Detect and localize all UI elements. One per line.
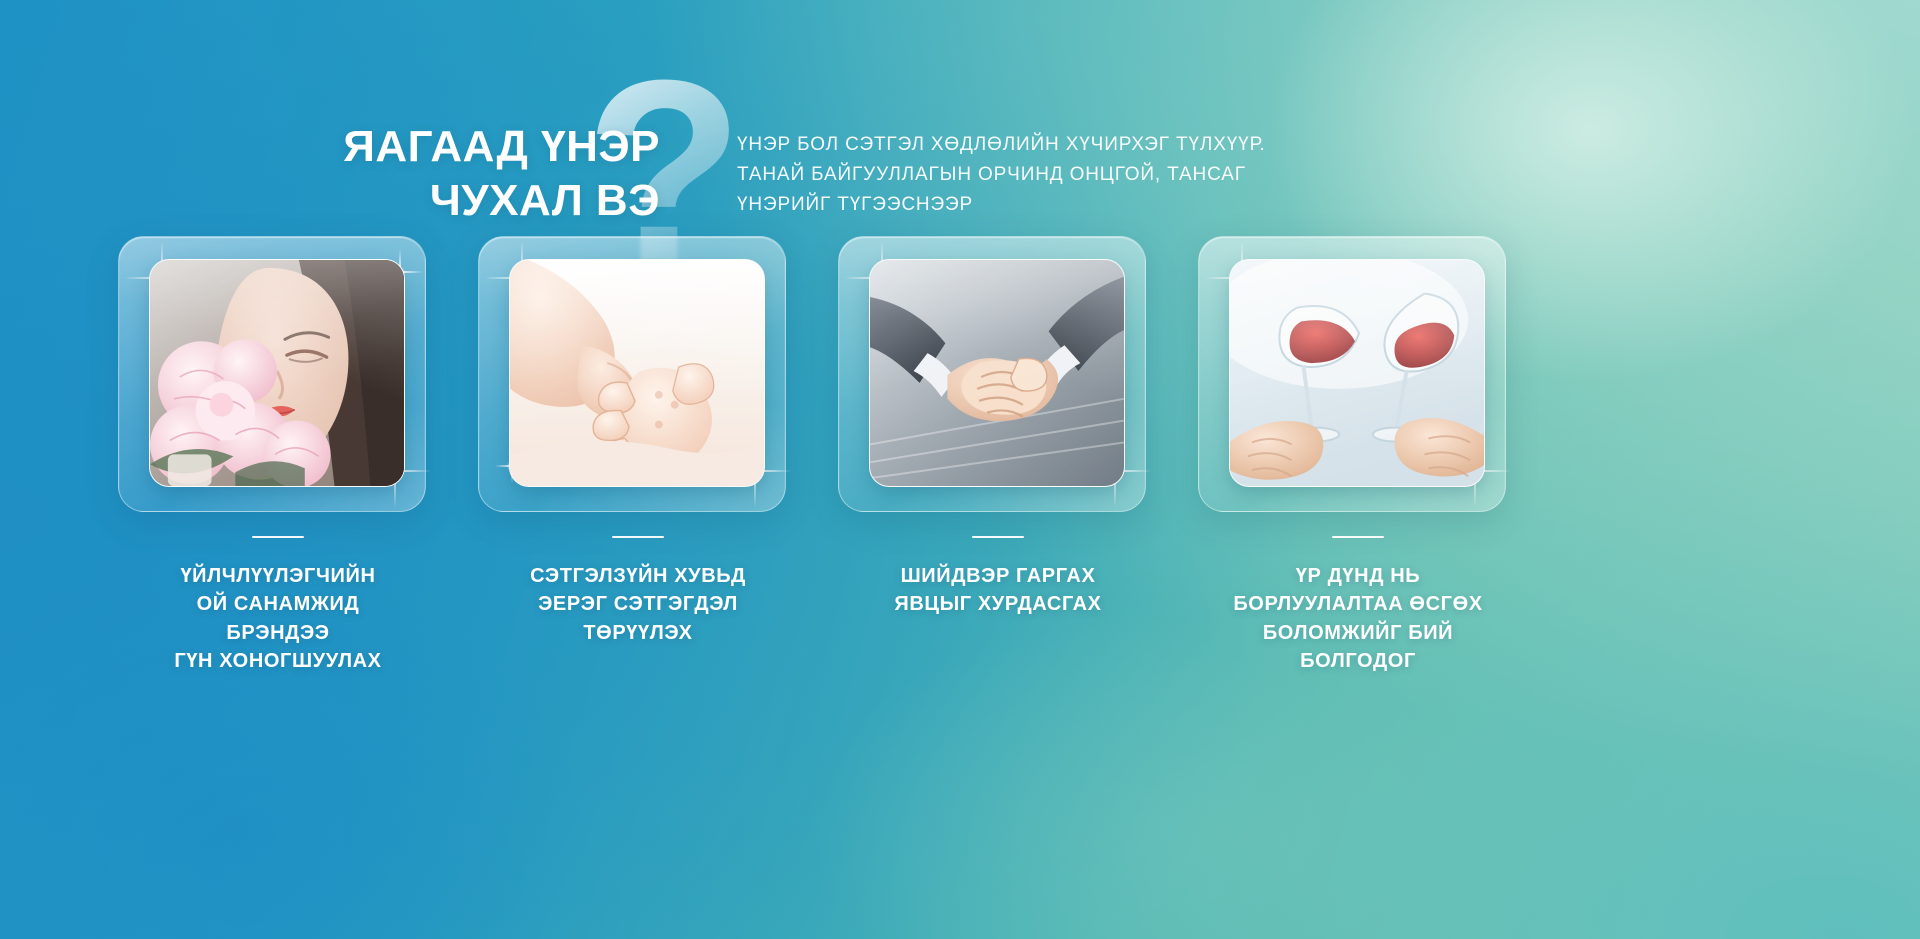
caption-divider — [612, 536, 664, 538]
benefit-card-1[interactable]: ҮЙЛЧЛҮҮЛЭГЧИЙН ОЙ САНАМЖИД БРЭНДЭЭ ГҮН Х… — [118, 236, 438, 512]
glass-frame — [118, 236, 426, 512]
image-gloss-overlay — [510, 260, 764, 486]
caption-line: БОЛГОДОГ — [1182, 647, 1534, 675]
benefit-card-3[interactable]: ШИЙДВЭР ГАРГАХ ЯВЦЫГ ХУРДАСГАХ — [838, 236, 1158, 512]
card-image-woman-smelling-flowers — [149, 259, 405, 487]
page-subtitle-line-1: ҮНЭР БОЛ СЭТГЭЛ ХӨДЛӨЛИЙН ХҮЧИРХЭГ ТҮЛХҮ… — [737, 130, 1357, 160]
caption-line: ҮЙЛЧЛҮҮЛЭГЧИЙН — [102, 562, 454, 590]
glass-frame — [478, 236, 786, 512]
caption-line: ШИЙДВЭР ГАРГАХ — [822, 562, 1174, 590]
caption-divider — [1332, 536, 1384, 538]
benefit-card-4[interactable]: ҮР ДҮНД НЬ БОРЛУУЛАЛТАА ӨСГӨХ БОЛОМЖИЙГ … — [1198, 236, 1518, 512]
page-title: ЯАГААД ҮНЭР ЧУХАЛ ВЭ — [0, 120, 660, 227]
card-image-baby-hand-holding-finger — [509, 259, 765, 487]
header: ? ЯАГААД ҮНЭР ЧУХАЛ ВЭ ҮНЭР БОЛ СЭТГЭЛ Х… — [0, 0, 1920, 260]
caption-line: СЭТГЭЛЗҮЙН ХУВЬД — [462, 562, 814, 590]
image-gloss-overlay — [1230, 260, 1484, 486]
caption-line: ГҮН ХОНОГШУУЛАХ — [102, 647, 454, 675]
page-title-line-2: ЧУХАЛ ВЭ — [0, 174, 660, 228]
benefit-card-3-caption: ШИЙДВЭР ГАРГАХ ЯВЦЫГ ХУРДАСГАХ — [822, 562, 1174, 619]
card-image-wine-glasses-toast — [1229, 259, 1485, 487]
benefit-card-1-caption: ҮЙЛЧЛҮҮЛЭГЧИЙН ОЙ САНАМЖИД БРЭНДЭЭ ГҮН Х… — [102, 562, 454, 676]
glass-frame — [838, 236, 1146, 512]
caption-line: БОРЛУУЛАЛТАА ӨСГӨХ — [1182, 590, 1534, 618]
caption-line: БРЭНДЭЭ — [102, 619, 454, 647]
benefit-card-list: ҮЙЛЧЛҮҮЛЭГЧИЙН ОЙ САНАМЖИД БРЭНДЭЭ ГҮН Х… — [0, 236, 1920, 716]
page-subtitle-line-2: ТАНАЙ БАЙГУУЛЛАГЫН ОРЧИНД ОНЦГОЙ, ТАНСАГ — [737, 160, 1357, 190]
benefit-card-2-caption: СЭТГЭЛЗҮЙН ХУВЬД ЭЕРЭГ СЭТГЭГДЭЛ ТӨРҮҮЛЭ… — [462, 562, 814, 647]
caption-line: ЭЕРЭГ СЭТГЭГДЭЛ — [462, 590, 814, 618]
benefit-card-2[interactable]: СЭТГЭЛЗҮЙН ХУВЬД ЭЕРЭГ СЭТГЭГДЭЛ ТӨРҮҮЛЭ… — [478, 236, 798, 512]
caption-line: ЯВЦЫГ ХУРДАСГАХ — [822, 590, 1174, 618]
caption-line: ҮР ДҮНД НЬ — [1182, 562, 1534, 590]
caption-divider — [972, 536, 1024, 538]
caption-divider — [252, 536, 304, 538]
caption-line: БОЛОМЖИЙГ БИЙ — [1182, 619, 1534, 647]
page-title-line-1: ЯАГААД ҮНЭР — [0, 120, 660, 174]
glass-frame — [1198, 236, 1506, 512]
caption-line: ОЙ САНАМЖИД — [102, 590, 454, 618]
page-subtitle-line-3: ҮНЭРИЙГ ТҮГЭЭСНЭЭР — [737, 190, 1357, 220]
image-gloss-overlay — [870, 260, 1124, 486]
benefit-card-4-caption: ҮР ДҮНД НЬ БОРЛУУЛАЛТАА ӨСГӨХ БОЛОМЖИЙГ … — [1182, 562, 1534, 676]
card-image-business-handshake — [869, 259, 1125, 487]
page-subtitle: ҮНЭР БОЛ СЭТГЭЛ ХӨДЛӨЛИЙН ХҮЧИРХЭГ ТҮЛХҮ… — [737, 130, 1357, 220]
caption-line: ТӨРҮҮЛЭХ — [462, 619, 814, 647]
image-gloss-overlay — [150, 260, 404, 486]
